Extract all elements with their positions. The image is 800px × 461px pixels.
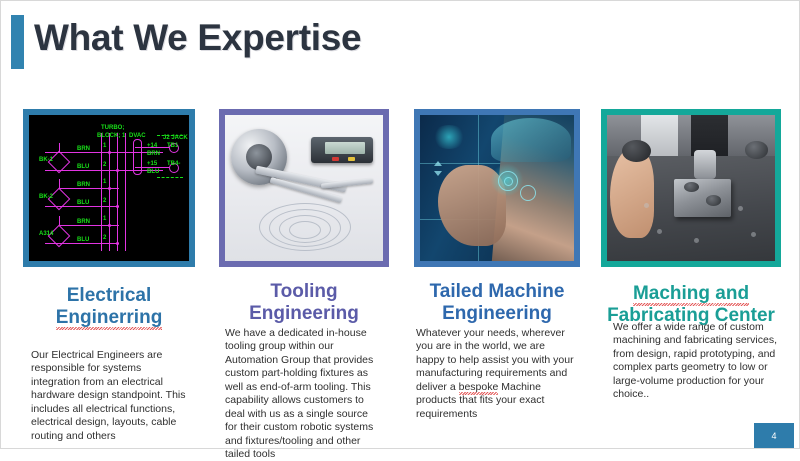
slide-canvas: What We Expertise bbox=[0, 0, 800, 449]
expertise-card-tooling[interactable]: Tooling Engineering We have a dedicated … bbox=[219, 109, 389, 267]
schematic-num-5: 1 bbox=[103, 216, 106, 222]
card-image-frame bbox=[601, 109, 781, 267]
slide-number-badge: 4 bbox=[754, 423, 794, 448]
electrical-schematic-thumbnail: TURBO; BLOCK; 1 DVAC J2 JACK TB1 TB4- +1… bbox=[29, 115, 189, 261]
schematic-label-tb4: TB4- bbox=[167, 161, 180, 167]
schematic-row-label-5: BRN bbox=[77, 219, 90, 225]
card-heading-line2: Engineering bbox=[442, 303, 552, 324]
schematic-num-2: 2 bbox=[103, 162, 106, 168]
schematic-row-label-2: BLU bbox=[77, 164, 89, 170]
schematic-tag-2: BK-2 bbox=[39, 194, 53, 200]
schematic-num-4: 2 bbox=[103, 198, 106, 204]
schematic-label-plus1: +14 bbox=[147, 143, 157, 149]
schematic-label-jack: J2 JACK bbox=[163, 135, 188, 141]
expertise-card-tailed-machine[interactable]: Tailed Machine Engineering Whatever your… bbox=[414, 109, 580, 267]
schematic-label-tb1: TB1 bbox=[167, 143, 178, 149]
expertise-card-electrical[interactable]: TURBO; BLOCK; 1 DVAC J2 JACK TB1 TB4- +1… bbox=[23, 109, 195, 267]
card-heading-line1: Tailed Machine bbox=[430, 281, 565, 302]
card-heading-tailed-machine: Tailed Machine Engineering bbox=[414, 281, 580, 325]
digital-caliper-bearing-thumbnail bbox=[225, 115, 383, 261]
schematic-row-label-3: BRN bbox=[77, 182, 90, 188]
card-image-frame bbox=[219, 109, 389, 267]
card-image-frame bbox=[414, 109, 580, 267]
card-heading-line1: Electrical bbox=[67, 285, 152, 306]
schematic-num-6: 2 bbox=[103, 235, 106, 241]
card-heading-tooling: Tooling Engineering bbox=[219, 281, 389, 325]
card-body-electrical: Our Electrical Engineers are responsible… bbox=[31, 349, 191, 443]
card-heading-line1: Maching and bbox=[633, 283, 749, 305]
expertise-card-machining[interactable]: Maching and Fabricating Center We offer … bbox=[601, 109, 781, 267]
card-body-tooling: We have a dedicated in-house tooling gro… bbox=[225, 327, 383, 461]
schematic-tag-3: A314 bbox=[39, 231, 53, 237]
schematic-label-turbo: TURBO; bbox=[101, 125, 124, 131]
engineer-hologram-thumbnail bbox=[420, 115, 574, 261]
card-image-frame: TURBO; BLOCK; 1 DVAC J2 JACK TB1 TB4- +1… bbox=[23, 109, 195, 267]
card-body-misspelled: bespoke bbox=[459, 381, 499, 394]
card-body-tailed-machine: Whatever your needs, wherever you are in… bbox=[416, 327, 576, 421]
card-heading-line1: Tooling bbox=[270, 281, 337, 302]
schematic-label-brn-r: BRN bbox=[147, 151, 160, 157]
schematic-label-dvac: DVAC bbox=[129, 133, 146, 139]
schematic-tag-1: BK-1 bbox=[39, 157, 53, 163]
schematic-row-label-6: BLU bbox=[77, 237, 89, 243]
schematic-num-1: 1 bbox=[103, 143, 106, 149]
card-heading-electrical: Electrical Enginerring bbox=[23, 285, 195, 329]
schematic-label-block: BLOCK; 1 bbox=[97, 133, 125, 139]
cmm-inspection-thumbnail bbox=[607, 115, 775, 261]
schematic-row-label-4: BLU bbox=[77, 200, 89, 206]
title-accent-bar bbox=[11, 15, 24, 69]
schematic-label-blu-r: BLU bbox=[147, 169, 159, 175]
card-heading-line2: Engineering bbox=[249, 303, 359, 324]
card-body-machining: We offer a wide range of custom machinin… bbox=[613, 321, 779, 402]
schematic-num-3: 1 bbox=[103, 179, 106, 185]
card-heading-line2: Enginerring bbox=[56, 307, 163, 329]
schematic-label-plus2: +15 bbox=[147, 161, 157, 167]
schematic-row-label-1: BRN bbox=[77, 146, 90, 152]
page-title: What We Expertise bbox=[34, 17, 361, 59]
